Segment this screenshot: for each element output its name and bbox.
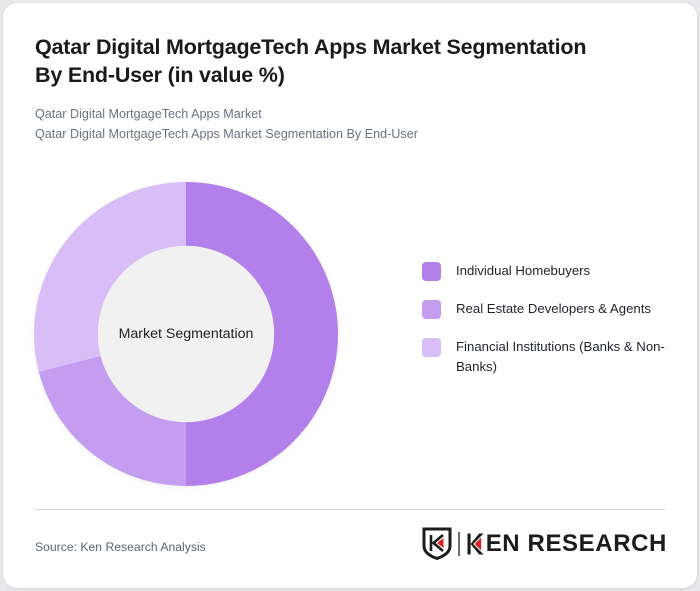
- legend-item-real-estate-developers[interactable]: Real Estate Developers & Agents: [422, 299, 680, 319]
- donut-chart: Market Segmentation: [34, 182, 338, 486]
- chart-legend: Individual Homebuyers Real Estate Develo…: [422, 261, 680, 377]
- donut-hole: [98, 246, 274, 422]
- legend-swatch-icon: [422, 300, 441, 319]
- chart-header: Qatar Digital MortgageTech Apps Market S…: [35, 33, 595, 145]
- legend-label: Real Estate Developers & Agents: [456, 299, 651, 319]
- logo-letter-k-icon: [467, 532, 485, 556]
- subtitle-group: Qatar Digital MortgageTech Apps Market Q…: [35, 104, 595, 145]
- legend-label: Individual Homebuyers: [456, 261, 590, 281]
- legend-swatch-icon: [422, 338, 441, 357]
- ken-research-shield-icon: [422, 527, 452, 560]
- page-title: Qatar Digital MortgageTech Apps Market S…: [35, 33, 595, 90]
- legend-swatch-icon: [422, 262, 441, 281]
- logo-text: EN RESEARCH: [486, 532, 667, 556]
- subtitle-line-1: Qatar Digital MortgageTech Apps Market: [35, 104, 595, 124]
- legend-item-financial-institutions[interactable]: Financial Institutions (Banks & Non-Bank…: [422, 337, 680, 377]
- subtitle-line-2: Qatar Digital MortgageTech Apps Market S…: [35, 124, 595, 144]
- legend-label: Financial Institutions (Banks & Non-Bank…: [456, 337, 680, 377]
- chart-card: Qatar Digital MortgageTech Apps Market S…: [3, 3, 697, 588]
- ken-research-logo: EN RESEARCH: [422, 527, 667, 560]
- legend-item-individual-homebuyers[interactable]: Individual Homebuyers: [422, 261, 680, 281]
- footer-divider: [35, 509, 665, 510]
- donut-chart-svg: [34, 182, 338, 486]
- source-note: Source: Ken Research Analysis: [35, 540, 206, 554]
- logo-separator: [458, 532, 460, 556]
- logo-wordmark: EN RESEARCH: [467, 532, 667, 556]
